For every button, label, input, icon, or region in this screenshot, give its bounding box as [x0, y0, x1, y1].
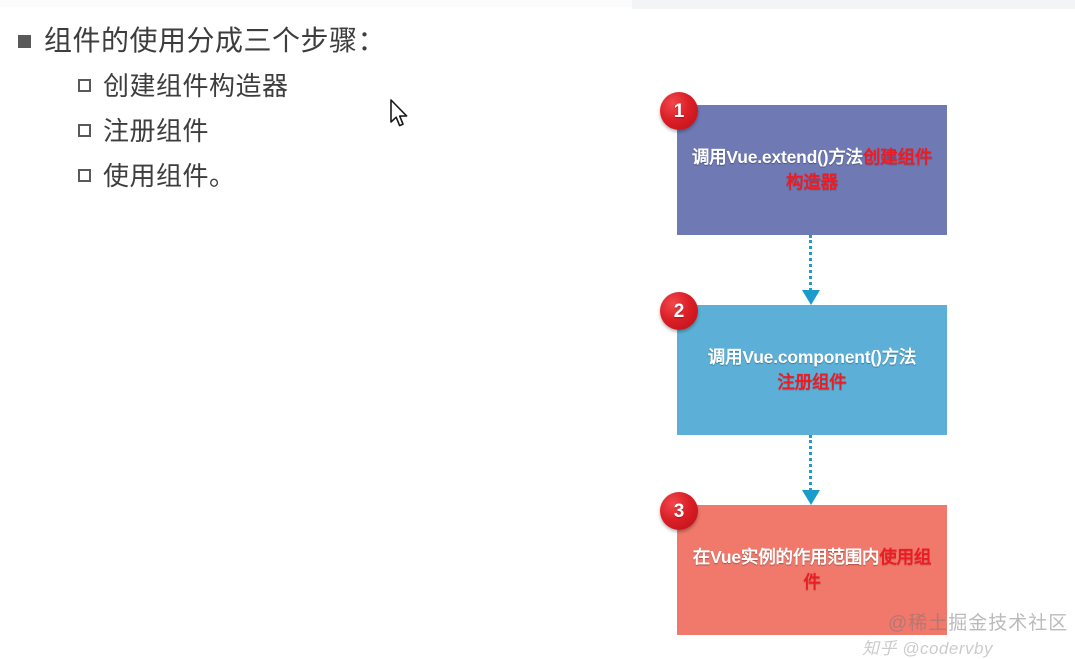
connector-line — [809, 235, 812, 291]
bullet-item-heading: 组件的使用分成三个步骤： — [0, 22, 600, 60]
flow-step-2-text-red: 注册组件 — [777, 372, 846, 392]
filled-square-bullet-icon — [18, 35, 31, 48]
hollow-square-bullet-icon — [78, 124, 91, 137]
flow-connector-1-to-2 — [809, 235, 812, 291]
bullet-step-3-text: 使用组件。 — [103, 157, 236, 195]
arrowhead-down-icon — [802, 490, 820, 505]
slide-top-edge-left — [0, 0, 632, 7]
bullet-item-step-1: 创建组件构造器 — [0, 66, 600, 105]
bullet-item-step-2: 注册组件 — [0, 111, 600, 150]
flow-step-3-text-white: 在Vue实例的作用范围内 — [693, 547, 880, 567]
watermark-primary: @稀土掘金技术社区 — [888, 608, 1068, 635]
bullet-step-2-text: 注册组件 — [103, 112, 209, 150]
slide-top-edge-right — [632, 0, 1075, 9]
flow-step-badge-3: 3 — [660, 492, 698, 530]
flow-step-1-text-white: 调用Vue.extend()方法 — [692, 147, 863, 167]
bullet-list: 组件的使用分成三个步骤： 创建组件构造器 注册组件 使用组件。 — [0, 22, 600, 201]
hollow-square-bullet-icon — [78, 79, 91, 92]
flow-step-badge-1: 1 — [660, 92, 698, 130]
flow-step-badge-2: 2 — [660, 292, 698, 330]
connector-line — [809, 435, 812, 491]
flow-step-2-label: 调用Vue.component()方法注册组件 — [708, 345, 916, 395]
bullet-step-1-text: 创建组件构造器 — [103, 67, 289, 105]
bullet-item-step-3: 使用组件。 — [0, 156, 600, 195]
flow-step-1-label: 调用Vue.extend()方法创建组件构造器 — [685, 145, 939, 195]
flow-step-3-label: 在Vue实例的作用范围内使用组件 — [685, 545, 939, 595]
flow-step-2-text-white: 调用Vue.component()方法 — [708, 347, 916, 367]
watermark-secondary: 知乎 @codervby — [862, 634, 993, 659]
hollow-square-bullet-icon — [78, 169, 91, 182]
arrowhead-down-icon — [802, 290, 820, 305]
flow-connector-2-to-3 — [809, 435, 812, 491]
flow-step-box-2[interactable]: 调用Vue.component()方法注册组件 — [677, 305, 947, 435]
flow-step-box-1[interactable]: 调用Vue.extend()方法创建组件构造器 — [677, 105, 947, 235]
bullet-heading-text: 组件的使用分成三个步骤： — [44, 22, 386, 60]
component-usage-flowchart: 调用Vue.extend()方法创建组件构造器 1 调用Vue.componen… — [640, 80, 1075, 653]
